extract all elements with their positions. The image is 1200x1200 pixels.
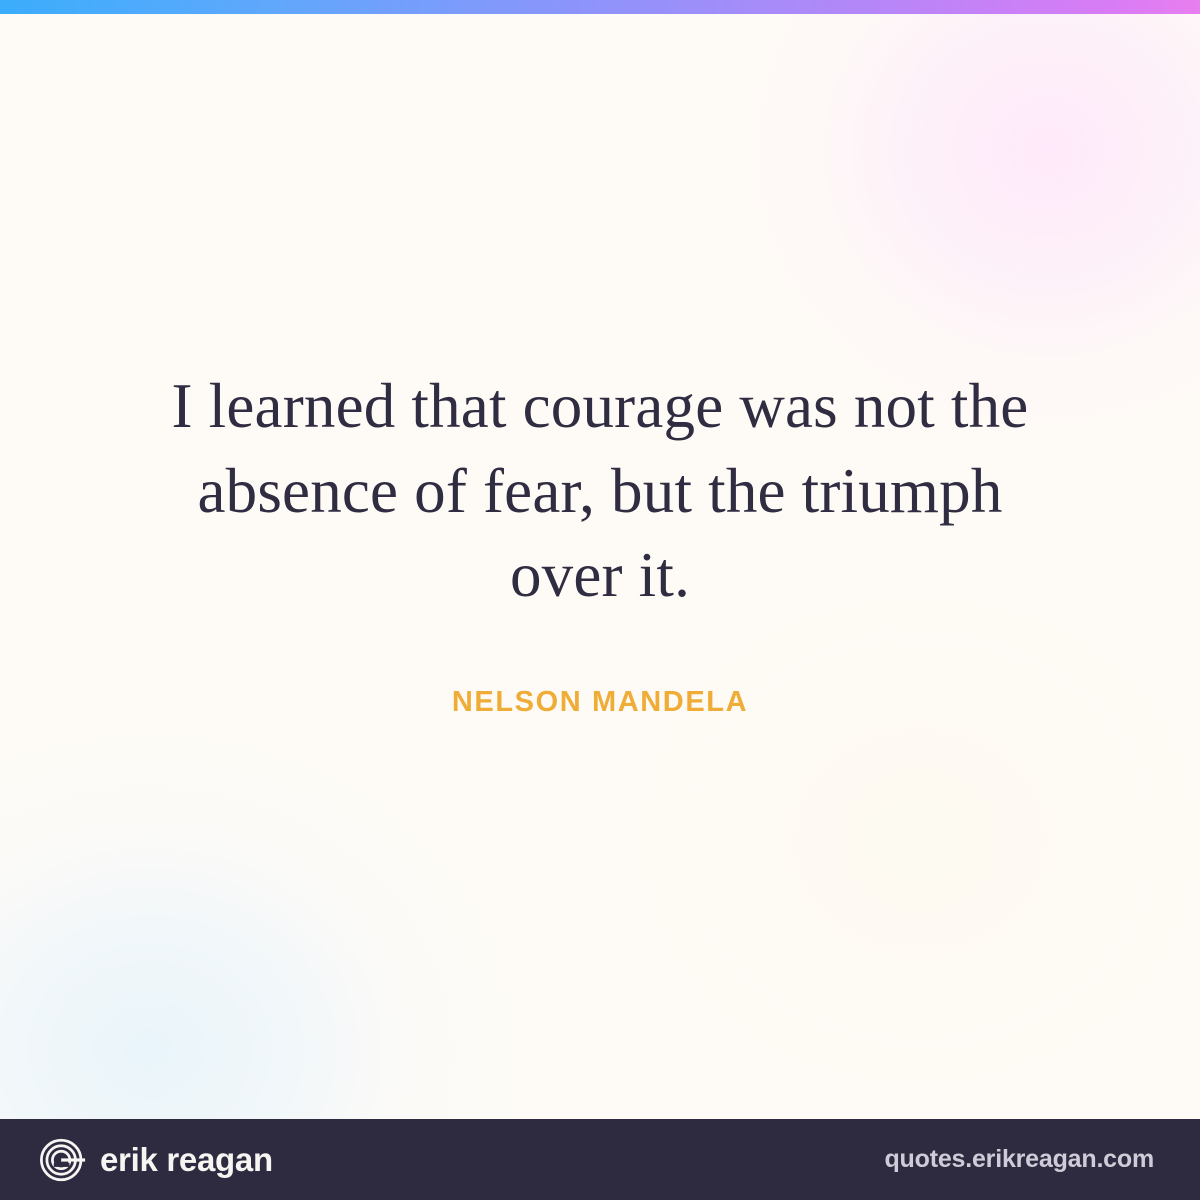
concentric-e-monogram-icon bbox=[40, 1137, 86, 1183]
gradient-accent-bar bbox=[0, 0, 1200, 14]
footer-brand[interactable]: erik reagan bbox=[40, 1137, 273, 1183]
brand-name-label: erik reagan bbox=[100, 1143, 273, 1176]
footer-url-label[interactable]: quotes.erikreagan.com bbox=[884, 1147, 1154, 1172]
quote-card: I learned that courage was not the absen… bbox=[0, 0, 1200, 1200]
quote-content-area: I learned that courage was not the absen… bbox=[0, 0, 1200, 1119]
quote-text: I learned that courage was not the absen… bbox=[140, 364, 1060, 617]
quote-attribution: NELSON MANDELA bbox=[140, 686, 1060, 719]
footer-bar: erik reagan quotes.erikreagan.com bbox=[0, 1119, 1200, 1200]
